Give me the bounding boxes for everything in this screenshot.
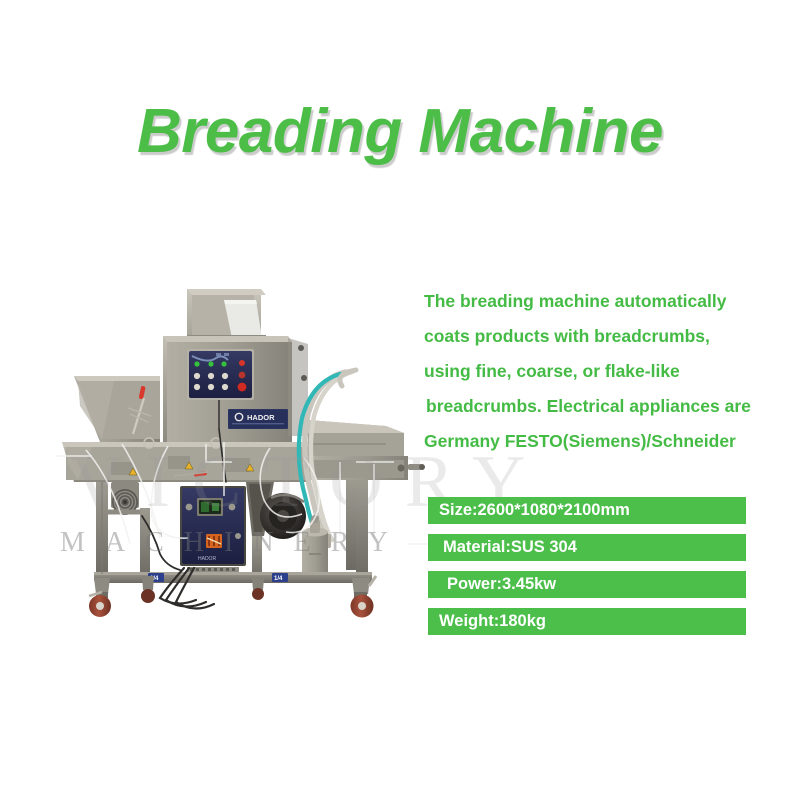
cabinet-logo xyxy=(206,534,222,548)
product-photo: HADOR xyxy=(56,286,428,626)
indicator-lamp-green xyxy=(194,361,199,366)
emergency-stop-button xyxy=(238,383,247,392)
conveyor-body xyxy=(62,438,308,482)
machine-illustration: HADOR xyxy=(56,286,428,626)
panel-button xyxy=(208,373,214,379)
product-banner: Breading Machine xyxy=(0,0,800,800)
description-line: Germany FESTO(Siemens)/Schneider xyxy=(424,424,796,459)
panel-button xyxy=(222,373,228,379)
description-line: The breading machine automatically xyxy=(424,284,796,319)
product-description: The breading machine automatically coats… xyxy=(424,284,796,459)
cabinet-button xyxy=(229,504,236,511)
top-feed-hopper xyxy=(187,289,266,339)
panel-button-red xyxy=(239,372,246,379)
spec-row-material: Material:SUS 304 xyxy=(428,534,746,561)
electrical-cabinet[interactable]: HADOR xyxy=(180,486,246,572)
panel-button xyxy=(194,373,200,379)
panel-button xyxy=(194,384,200,390)
spec-list: Size:2600*1080*2100mm Material:SUS 304 P… xyxy=(428,497,746,645)
page-title: Breading Machine xyxy=(0,96,800,167)
spec-row-power: Power:3.45kw xyxy=(428,571,746,598)
panel-button xyxy=(222,384,228,390)
left-feed-hopper xyxy=(74,376,160,442)
brand-nameplate: HADOR xyxy=(228,409,288,429)
svg-text:HADOR: HADOR xyxy=(247,413,275,422)
description-line: breadcrumbs. Electrical appliances are xyxy=(424,389,796,424)
description-line: coats products with breadcrumbs, xyxy=(424,319,796,354)
indicator-lamp-red xyxy=(239,360,245,366)
spec-row-weight: Weight:180kg xyxy=(428,608,746,635)
cabinet-button xyxy=(186,504,193,511)
svg-text:HADOR: HADOR xyxy=(198,556,216,562)
indicator-lamp-green xyxy=(208,361,213,366)
cabinet-button xyxy=(235,533,241,539)
svg-text:1/4: 1/4 xyxy=(274,576,283,582)
spec-row-size: Size:2600*1080*2100mm xyxy=(428,497,746,524)
panel-button xyxy=(208,384,214,390)
description-line: using fine, coarse, or flake-like xyxy=(424,354,796,389)
indicator-lamp-green xyxy=(221,361,226,366)
